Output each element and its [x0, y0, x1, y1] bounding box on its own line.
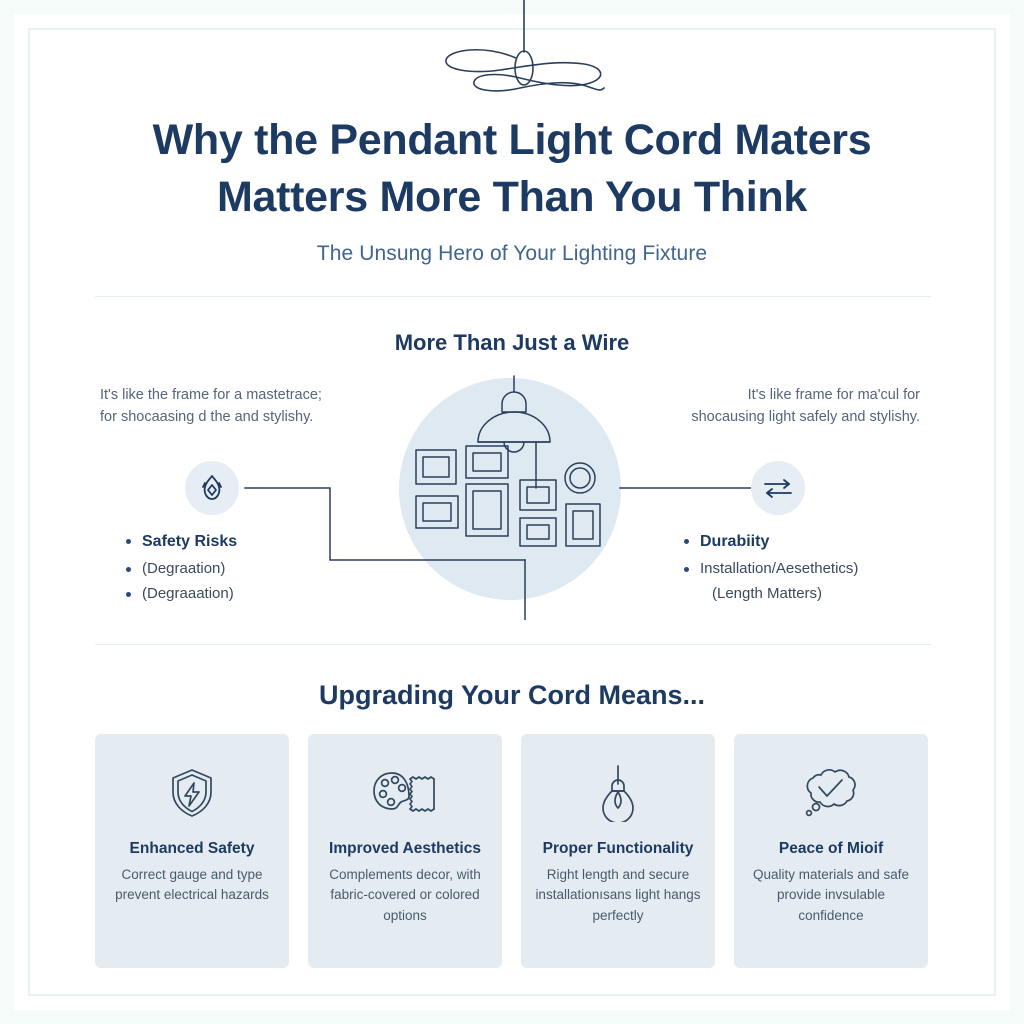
benefit-card-list: Enhanced Safety Correct gauge and type p…	[95, 734, 931, 968]
middle-left-bullet-list: Safety Risks (Degraation) (Degraaation)	[122, 528, 237, 607]
benefit-card-description: Quality materials and safe provide invsu…	[734, 865, 928, 926]
benefit-card-description: Complements decor, with fabric-covered o…	[308, 865, 502, 926]
pendant-lamp-gallery-wall-icon	[390, 370, 634, 614]
list-item: (Degraation)	[122, 556, 237, 582]
middle-left-description: It's like the frame for a mastetrace; fo…	[100, 384, 390, 429]
benefit-card-title: Improved Aesthetics	[329, 840, 481, 858]
poster-header: Why the Pendant Light Cord Maters Matter…	[62, 112, 962, 266]
list-item: Safety Risks	[122, 528, 237, 556]
list-item: (Length Matters)	[680, 581, 858, 607]
thought-bubble-check-icon	[801, 760, 861, 826]
middle-left-description-line-1: It's like the frame for a mastetrace;	[100, 387, 322, 403]
benefit-card: Enhanced Safety Correct gauge and type p…	[95, 734, 289, 968]
benefit-card-title: Enhanced Safety	[130, 840, 255, 858]
palette-fabric-icon	[372, 760, 438, 826]
benefit-card: Peace of Mioif Quality materials and saf…	[734, 734, 928, 968]
divider-bottom	[95, 644, 931, 645]
list-item: Installation/Aesethetics)	[680, 556, 858, 582]
infographic-poster: Why the Pendant Light Cord Maters Matter…	[0, 0, 1024, 1024]
page-title-line-2: Matters More Than You Think	[217, 173, 807, 221]
middle-right-bullet-list: Durabiity Installation/Aesethetics) (Len…	[680, 528, 858, 607]
middle-right-description: It's like frame for ma'cul for shocausin…	[630, 384, 920, 429]
hanging-bulb-icon	[600, 760, 636, 826]
middle-right-description-line-1: It's like frame for ma'cul for	[748, 387, 920, 403]
shield-bolt-icon	[169, 760, 215, 826]
benefit-card-title: Proper Functionality	[543, 840, 694, 858]
section-heading-lower: Upgrading Your Cord Means...	[0, 680, 1024, 711]
list-item: Durabiity	[680, 528, 858, 556]
section-heading-middle: More Than Just a Wire	[0, 330, 1024, 356]
benefit-card-description: Correct gauge and type prevent electrica…	[95, 865, 289, 906]
hanging-cord-knot-icon	[424, 0, 624, 110]
page-title: Why the Pendant Light Cord Maters Matter…	[62, 112, 962, 226]
exchange-arrows-icon	[751, 461, 805, 515]
benefit-card: Improved Aesthetics Complements decor, w…	[308, 734, 502, 968]
page-title-line-1: Why the Pendant Light Cord Maters	[153, 116, 872, 164]
page-subtitle: The Unsung Hero of Your Lighting Fixture	[62, 242, 962, 266]
middle-right-description-line-2: shocausing light safely and stylishy.	[691, 409, 920, 425]
list-item: (Degraaation)	[122, 581, 237, 607]
divider-top	[95, 296, 931, 297]
benefit-card-description: Right length and secure installationısan…	[521, 865, 715, 926]
benefit-card-title: Peace of Mioif	[779, 840, 883, 858]
flame-icon	[185, 461, 239, 515]
middle-left-description-line-2: for shocaasing d the and stylishy.	[100, 409, 313, 425]
benefit-card: Proper Functionality Right length and se…	[521, 734, 715, 968]
